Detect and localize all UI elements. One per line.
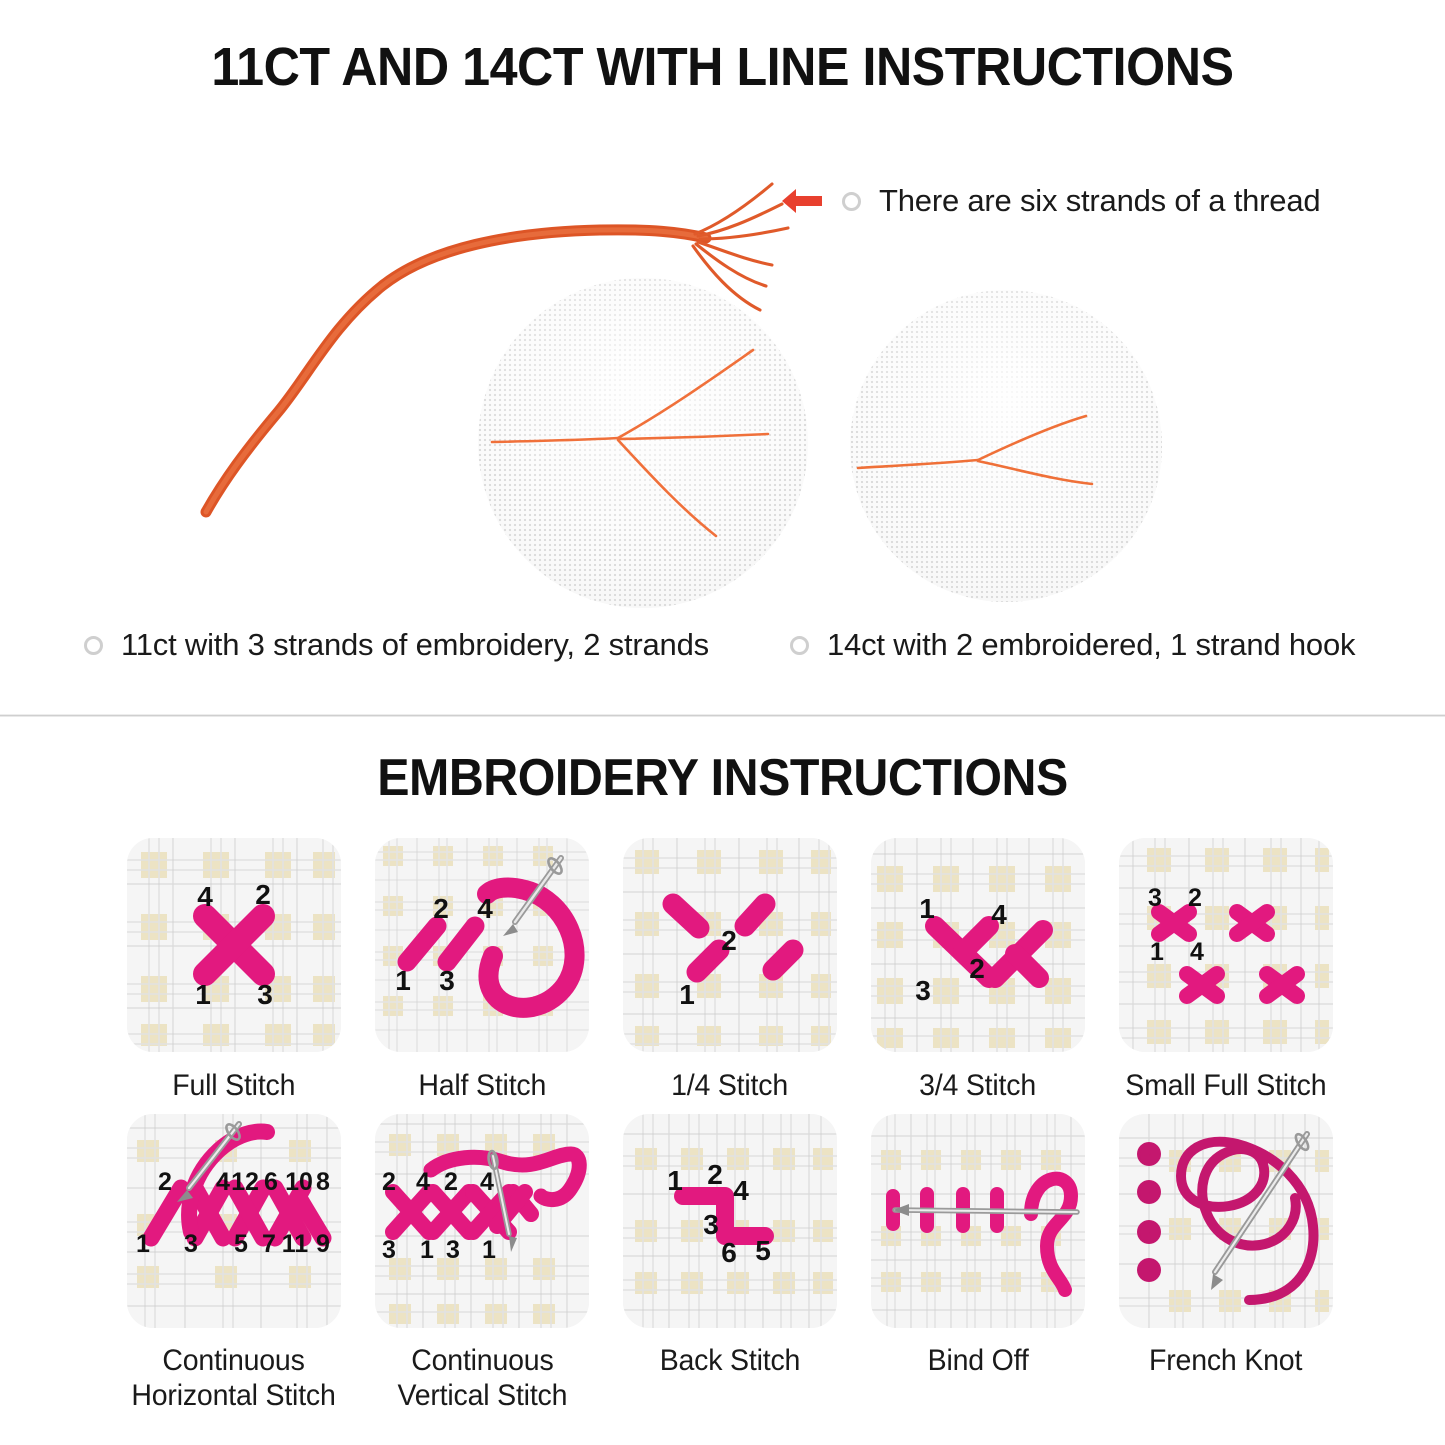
small-full-stitch-artwork: 3 2 1 4: [1119, 838, 1333, 1052]
three-quarter-stitch-artwork: 1 4 2 3: [871, 838, 1085, 1052]
bind-off-artwork: [871, 1114, 1085, 1328]
stitch-diagram-continuous-horizontal-stitch: 2 4 12 6 10 8 1 3 5 7 11 9: [127, 1114, 341, 1328]
stitch-card-french-knot: French Knot: [1102, 1114, 1350, 1414]
stitch-number: 10: [285, 1168, 313, 1196]
stitch-number: 3: [1148, 884, 1162, 912]
stitch-number: 4: [733, 1175, 749, 1206]
stitch-number: 4: [1190, 938, 1204, 966]
six-strands-note-text: There are six strands of a thread: [879, 183, 1320, 219]
stitch-number: 4: [480, 1168, 494, 1196]
stitch-number: 1: [195, 979, 211, 1010]
stitch-card-full-stitch: 4 2 1 3 Full Stitch: [110, 838, 358, 1104]
stitch-diagram-three-quarter-stitch: 1 4 2 3: [871, 838, 1085, 1052]
stitch-label-half-stitch: Half Stitch: [418, 1069, 546, 1104]
stitch-number: 2: [382, 1168, 396, 1196]
stitch-diagram-continuous-vertical-stitch: 2 4 2 4 3 1 3 1: [375, 1114, 589, 1328]
stitch-number: 3: [184, 1230, 198, 1258]
stitch-number: 2: [969, 953, 985, 984]
six-strands-note: There are six strands of a thread: [780, 183, 1320, 219]
left-arrow-icon: [780, 186, 824, 216]
instruction-sheet: 11CT AND 14CT WITH LINE INSTRUCTIONS The…: [0, 0, 1445, 1445]
label-line-2: Horizontal Stitch: [132, 1379, 336, 1412]
stitch-number: 6: [721, 1237, 737, 1268]
stitch-number: 2: [444, 1168, 458, 1196]
stitch-diagram-small-full-stitch: 3 2 1 4: [1119, 838, 1333, 1052]
stitch-label-back-stitch: Back Stitch: [660, 1344, 800, 1379]
stitch-number: 4: [991, 899, 1007, 930]
stitch-label-bind-off: Bind Off: [928, 1344, 1029, 1379]
caption-11ct-text: 11ct with 3 strands of embroidery, 2 str…: [121, 627, 709, 663]
stitch-label-three-quarter-stitch: 3/4 Stitch: [920, 1069, 1037, 1104]
fabric-swatch-11ct: [478, 278, 808, 608]
stitch-card-three-quarter-stitch: 1 4 2 3 3/4 Stitch: [854, 838, 1102, 1104]
stitch-number: 9: [316, 1230, 330, 1258]
caption-14ct: 14ct with 2 embroidered, 1 strand hook: [790, 627, 1355, 663]
stitch-diagram-half-stitch: 2 4 1 3: [375, 838, 589, 1052]
stitch-card-continuous-horizontal-stitch: 2 4 12 6 10 8 1 3 5 7 11 9 Continuous Ho…: [110, 1114, 358, 1414]
stitch-number: 3: [446, 1236, 460, 1264]
stitch-card-bind-off: Bind Off: [854, 1114, 1102, 1414]
stitch-number: 1: [482, 1236, 496, 1264]
thread-strands-11ct: [478, 278, 808, 608]
full-stitch-artwork: 4 2 1 3: [127, 838, 341, 1052]
label-line-2: Vertical Stitch: [397, 1379, 567, 1412]
back-stitch-artwork: 1 2 4 3 6 5: [623, 1114, 837, 1328]
half-stitch-artwork: 2 4 1 3: [375, 838, 589, 1052]
thread-strands-14ct: [850, 290, 1162, 602]
page-title-embroidery-instructions: EMBROIDERY INSTRUCTIONS: [51, 748, 1395, 808]
stitch-number: 6: [264, 1168, 278, 1196]
stitch-number: 3: [703, 1209, 719, 1240]
stitch-label-quarter-stitch: 1/4 Stitch: [672, 1069, 789, 1104]
stitch-grid: 4 2 1 3 Full Stitch: [110, 838, 1350, 1413]
continuous-horizontal-stitch-artwork: 2 4 12 6 10 8 1 3 5 7 11 9: [127, 1114, 341, 1328]
stitch-number: 2: [158, 1168, 172, 1196]
circle-bullet-icon: [84, 636, 103, 655]
quarter-stitch-artwork: 2 1: [623, 838, 837, 1052]
stitch-label-french-knot: French Knot: [1149, 1344, 1302, 1379]
label-line-1: Continuous: [163, 1344, 305, 1377]
circle-bullet-icon: [842, 192, 861, 211]
stitch-label-small-full-stitch: Small Full Stitch: [1125, 1069, 1326, 1104]
stitch-number: 3: [382, 1236, 396, 1264]
stitch-number: 2: [1188, 884, 1202, 912]
caption-14ct-text: 14ct with 2 embroidered, 1 strand hook: [827, 627, 1355, 663]
stitch-number: 3: [257, 979, 273, 1010]
stitch-card-back-stitch: 1 2 4 3 6 5 Back Stitch: [606, 1114, 854, 1414]
circle-bullet-icon: [790, 636, 809, 655]
stitch-number: 4: [216, 1168, 230, 1196]
section-divider: [0, 714, 1445, 717]
stitch-diagram-french-knot: [1119, 1114, 1333, 1328]
stitch-diagram-full-stitch: 4 2 1 3: [127, 838, 341, 1052]
stitch-number: 1: [136, 1230, 150, 1258]
stitch-number: 3: [439, 965, 455, 996]
stitch-card-half-stitch: 2 4 1 3 Half Stitch: [358, 838, 606, 1104]
page-title-ct-instructions: 11CT AND 14CT WITH LINE INSTRUCTIONS: [51, 36, 1395, 98]
fabric-swatch-14ct: [850, 290, 1162, 602]
stitch-diagram-quarter-stitch: 2 1: [623, 838, 837, 1052]
stitch-number: 2: [433, 893, 449, 924]
stitch-label-continuous-horizontal-stitch: Continuous Horizontal Stitch: [132, 1344, 336, 1414]
french-knot-artwork: [1119, 1114, 1333, 1328]
stitch-number: 8: [316, 1168, 330, 1196]
stitch-label-continuous-vertical-stitch: Continuous Vertical Stitch: [397, 1344, 567, 1414]
stitch-number: 4: [416, 1168, 430, 1196]
stitch-number: 5: [755, 1235, 771, 1266]
stitch-diagram-back-stitch: 1 2 4 3 6 5: [623, 1114, 837, 1328]
stitch-number: 1: [395, 965, 411, 996]
stitch-number: 1: [679, 979, 695, 1010]
stitch-number: 3: [915, 975, 931, 1006]
stitch-number: 1: [667, 1165, 683, 1196]
stitch-number: 7: [262, 1230, 276, 1258]
label-line-1: Continuous: [411, 1344, 553, 1377]
stitch-number: 2: [721, 925, 737, 956]
stitch-label-full-stitch: Full Stitch: [172, 1069, 295, 1104]
stitch-number: 11: [282, 1230, 309, 1258]
stitch-number: 4: [197, 881, 213, 912]
stitch-card-quarter-stitch: 2 1 1/4 Stitch: [606, 838, 854, 1104]
stitch-number: 2: [707, 1159, 723, 1190]
stitch-number: 2: [255, 879, 271, 910]
stitch-number: 4: [477, 893, 493, 924]
stitch-number: 5: [234, 1230, 248, 1258]
stitch-number: 1: [420, 1236, 434, 1264]
stitch-card-small-full-stitch: 3 2 1 4 Small Full Stitch: [1102, 838, 1350, 1104]
caption-11ct: 11ct with 3 strands of embroidery, 2 str…: [84, 627, 709, 663]
stitch-number: 12: [231, 1168, 259, 1196]
stitch-card-continuous-vertical-stitch: 2 4 2 4 3 1 3 1 Continuous Vertical Stit…: [358, 1114, 606, 1414]
stitch-number: 1: [919, 893, 935, 924]
continuous-vertical-stitch-artwork: 2 4 2 4 3 1 3 1: [375, 1114, 589, 1328]
stitch-diagram-bind-off: [871, 1114, 1085, 1328]
stitch-number: 1: [1150, 938, 1164, 966]
